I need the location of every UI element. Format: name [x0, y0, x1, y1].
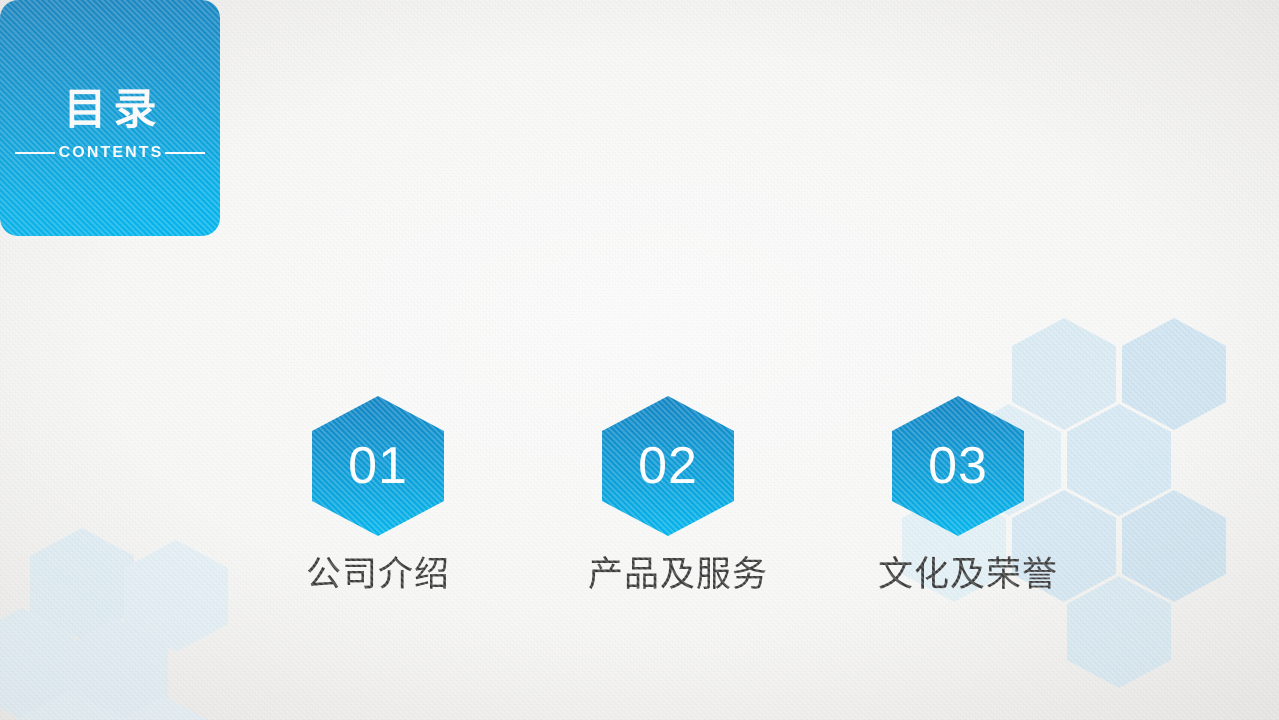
contents-title-en: CONTENTS — [55, 145, 166, 161]
contents-hexagon[interactable]: 目录 CONTENTS — [0, 0, 220, 236]
contents-slide: 目录 CONTENTS 01 公司介绍 02 产品及服务 03 文化及荣誉 — [0, 0, 1279, 720]
agenda-item-02[interactable]: 02 产品及服务 — [588, 396, 748, 593]
agenda-item-01[interactable]: 01 公司介绍 — [298, 396, 458, 593]
contents-subtitle-row: CONTENTS — [7, 145, 213, 161]
item-label: 文化及荣誉 — [878, 558, 1038, 593]
item-label: 产品及服务 — [588, 558, 748, 593]
number-hexagon[interactable]: 03 — [892, 396, 1024, 536]
agenda-item-03[interactable]: 03 文化及荣誉 — [878, 396, 1038, 593]
rule-left-icon — [15, 152, 55, 154]
contents-title-zh: 目录 — [57, 89, 164, 132]
item-number: 03 — [928, 440, 988, 492]
item-number: 02 — [638, 440, 698, 492]
deco-hexagon — [1067, 576, 1171, 688]
number-hexagon[interactable]: 01 — [312, 396, 444, 536]
deco-hexagon — [1067, 404, 1171, 516]
deco-hexagon — [1122, 490, 1226, 602]
item-number: 01 — [348, 440, 408, 492]
number-hexagon[interactable]: 02 — [602, 396, 734, 536]
deco-hexagon — [1122, 318, 1226, 430]
rule-right-icon — [165, 152, 205, 154]
item-label: 公司介绍 — [298, 558, 458, 593]
